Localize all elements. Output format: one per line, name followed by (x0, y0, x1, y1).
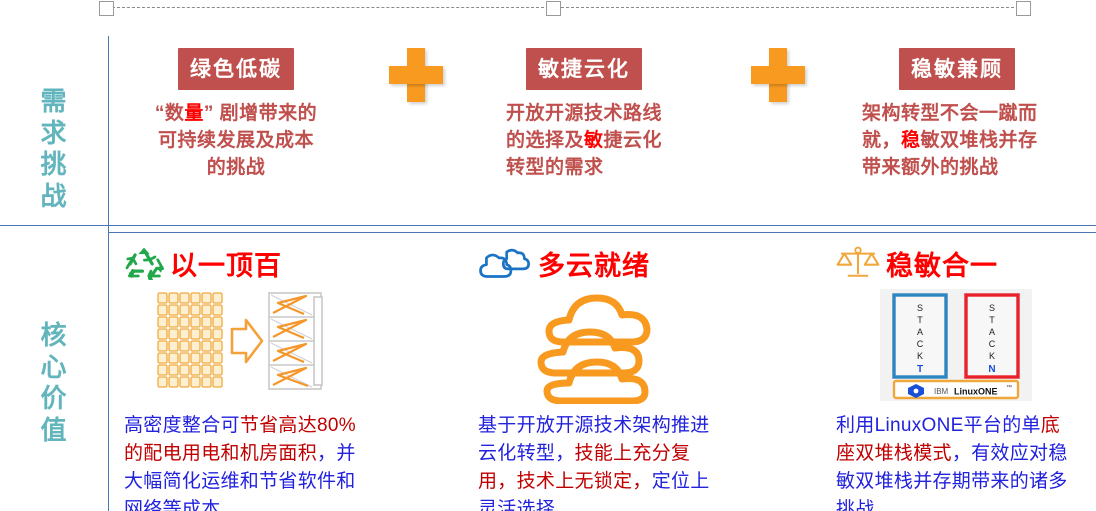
challenge-chip-2: 敏捷云化 (526, 48, 642, 90)
slide-canvas: 需 求 挑 战 核 心 价 值 绿色低碳 “数量” 剧增带来的可持续发展及成本的… (0, 0, 1096, 511)
challenge-body-1-seg-1: 量 (184, 103, 204, 124)
challenge-body-3: 架构转型不会一蹴而就，稳敏双堆栈并存带来额外的挑战 (862, 101, 1052, 182)
value-card-3-head: 稳敏合一 (836, 242, 1076, 284)
svg-text:C: C (989, 339, 996, 349)
linuxone-dual-stack-diagram: S T A C K T S T A C K N IBM LinuxONE (836, 284, 1076, 406)
value-card-3-body-seg-0: 利用LinuxONE平台的单 (836, 415, 1041, 436)
value-card-1-head: 以一顶百 (124, 242, 364, 284)
value-card-3-title: 稳敏合一 (886, 244, 998, 283)
svg-text:IBM: IBM (934, 387, 949, 396)
svg-text:K: K (917, 351, 923, 361)
row-label-demand-char-2: 挑 (0, 149, 108, 181)
value-card-dual-stack[interactable]: 稳敏合一 S T A C K T S T A C K N (836, 242, 1076, 511)
row-label-value-char-0: 核 (0, 320, 108, 352)
value-card-multicloud[interactable]: 多云就绪 基于开放开源技术架构推进云化转型，技能上充分复用，技术上无锁定，定位上… (478, 242, 728, 511)
svg-text:T: T (989, 315, 995, 325)
value-card-consolidation[interactable]: 以一顶百 (124, 242, 364, 511)
row-label-demand-char-3: 战 (0, 181, 108, 213)
challenge-chip-wrap-2: 敏捷云化 (500, 48, 668, 90)
row-divider-mid (108, 232, 1096, 233)
row-label-value-char-2: 价 (0, 383, 108, 415)
challenge-card-green-low-carbon[interactable]: 绿色低碳 “数量” 剧增带来的可持续发展及成本的挑战 (152, 48, 320, 182)
plus-connector-1 (386, 46, 444, 104)
row-label-value-char-1: 心 (0, 352, 108, 384)
cloud-icon (478, 246, 532, 280)
svg-text:A: A (989, 327, 995, 337)
svg-text:™: ™ (1006, 384, 1012, 391)
selection-handle-center[interactable] (546, 1, 561, 16)
svg-text:T: T (917, 315, 923, 325)
server-consolidation-diagram (124, 284, 364, 406)
challenge-card-stable-agile[interactable]: 稳敏兼顾 架构转型不会一蹴而就，稳敏双堆栈并存带来额外的挑战 (862, 48, 1052, 182)
scales-icon (836, 246, 880, 280)
group-selection-bar[interactable] (0, 0, 1096, 18)
value-card-1-body: 高密度整合可节省高达80%的配电用电和机房面积，并大幅简化运维和节省软件和网络等… (124, 412, 364, 511)
challenge-chip-3: 稳敏兼顾 (899, 48, 1015, 90)
row-label-demand-char-1: 求 (0, 118, 108, 150)
challenge-body-2: 开放开源技术路线的选择及敏捷云化转型的需求 (500, 101, 668, 182)
svg-text:N: N (988, 364, 995, 375)
value-card-2-body: 基于开放开源技术架构推进云化转型，技能上充分复用，技术上无锁定，定位上灵活选择 (478, 412, 728, 511)
svg-text:C: C (917, 339, 924, 349)
challenge-body-2-seg-1: 敏 (584, 130, 604, 151)
selection-dash-left (112, 7, 544, 8)
row-label-value-char-3: 值 (0, 415, 108, 447)
column-divider (108, 36, 109, 511)
svg-text:LinuxONE: LinuxONE (954, 387, 998, 397)
challenge-chip-wrap-1: 绿色低碳 (152, 48, 320, 90)
value-card-1-body-seg-0: 高密度整合可 (124, 415, 240, 436)
value-card-2-title: 多云就绪 (538, 244, 650, 283)
selection-handle-left[interactable] (99, 1, 114, 16)
svg-text:T: T (917, 364, 923, 375)
row-label-demand-char-0: 需 (0, 86, 108, 118)
challenge-body-3-seg-1: 稳 (901, 130, 921, 151)
value-card-1-title: 以一顶百 (170, 244, 282, 283)
stacked-clouds-diagram (478, 284, 728, 406)
svg-text:S: S (917, 303, 923, 313)
plus-connector-2 (748, 46, 806, 104)
value-card-2-head: 多云就绪 (478, 242, 728, 284)
recycle-icon (124, 246, 164, 280)
selection-dash-right (561, 7, 1014, 8)
row-label-core-value: 核 心 价 值 (0, 320, 108, 447)
challenge-body-1-seg-0: “数 (155, 103, 185, 124)
row-divider-top (0, 225, 1096, 226)
row-label-demand: 需 求 挑 战 (0, 86, 108, 213)
selection-handle-right[interactable] (1016, 1, 1031, 16)
svg-text:K: K (989, 351, 995, 361)
challenge-chip-1: 绿色低碳 (178, 48, 294, 90)
challenge-chip-wrap-3: 稳敏兼顾 (862, 48, 1052, 90)
challenge-card-agile-cloud[interactable]: 敏捷云化 开放开源技术路线的选择及敏捷云化转型的需求 (500, 48, 668, 182)
value-card-3-body: 利用LinuxONE平台的单底座双堆栈模式，有效应对稳敏双堆栈并存期带来的诸多挑… (836, 412, 1076, 511)
challenge-body-1: “数量” 剧增带来的可持续发展及成本的挑战 (152, 101, 320, 182)
svg-text:S: S (989, 303, 995, 313)
svg-text:A: A (917, 327, 923, 337)
